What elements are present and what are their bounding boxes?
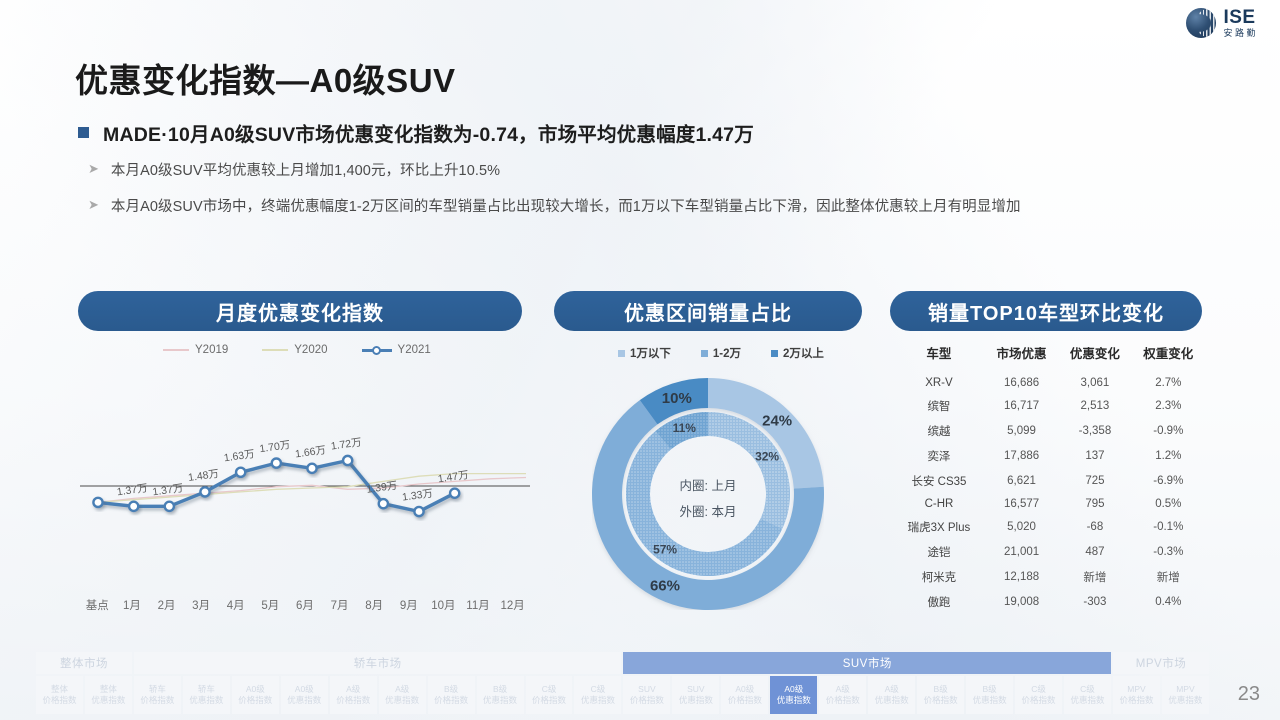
x-tick-label: 1月 — [115, 597, 150, 613]
table-row: C-HR16,5777950.5% — [893, 493, 1205, 514]
legend-label: 1-2万 — [713, 345, 741, 361]
data-label: 1.47万 — [437, 469, 469, 485]
nav-group-轿车市场[interactable]: 轿车市场 — [134, 652, 622, 674]
nav-item-line2: 价格指数 — [336, 695, 370, 706]
nav-item-line1: C级 — [591, 684, 606, 695]
line-chart-x-axis: 基点1月2月3月4月5月6月7月8月9月10月11月12月 — [80, 597, 530, 613]
table-cell: 21,001 — [985, 539, 1058, 564]
brand-logo: ISE 安路勤 — [1186, 8, 1258, 38]
table-cell: 柯米克 — [893, 564, 985, 589]
table-cell: 瑞虎3X Plus — [893, 514, 985, 539]
table-cell: 12,188 — [985, 564, 1058, 589]
table-cell: -6.9% — [1132, 468, 1205, 493]
main-bullet-text: MADE·10月A0级SUV市场优惠变化指数为-0.74，市场平均优惠幅度1.4… — [103, 118, 754, 147]
donut-outer-label: 24% — [762, 412, 792, 429]
data-point — [165, 502, 174, 511]
main-bullet: MADE·10月A0级SUV市场优惠变化指数为-0.74，市场平均优惠幅度1.4… — [78, 118, 754, 147]
table-cell: 2,513 — [1058, 393, 1131, 418]
nav-item-line1: C级 — [1031, 684, 1046, 695]
x-tick-label: 3月 — [184, 597, 219, 613]
table-row: 缤越5,099-3,358-0.9% — [893, 418, 1205, 443]
nav-item-line1: B级 — [934, 684, 948, 695]
nav-group-SUV市场[interactable]: SUV市场 — [623, 652, 1111, 674]
nav-item-15[interactable]: A0级优惠指数 — [770, 676, 817, 714]
table-cell: XR-V — [893, 372, 985, 393]
legend-line-swatch — [262, 349, 288, 351]
x-tick-label: 6月 — [288, 597, 323, 613]
table-cell: 2.3% — [1132, 393, 1205, 418]
nav-item-0[interactable]: 整体价格指数 — [36, 676, 83, 714]
nav-item-line2: 优惠指数 — [875, 695, 909, 706]
x-tick-label: 9月 — [391, 597, 426, 613]
x-tick-label: 8月 — [357, 597, 392, 613]
nav-group-MPV市场[interactable]: MPV市场 — [1113, 652, 1209, 674]
legend-item-1万以下: 1万以下 — [618, 345, 671, 361]
nav-item-6[interactable]: A级价格指数 — [330, 676, 377, 714]
x-tick-label: 11月 — [461, 597, 496, 613]
nav-item-11[interactable]: C级优惠指数 — [574, 676, 621, 714]
brand-text: ISE 安路勤 — [1223, 8, 1258, 38]
data-label: 1.39万 — [366, 480, 398, 496]
data-label: 1.66万 — [294, 444, 326, 460]
nav-item-line1: 整体 — [51, 684, 68, 695]
data-label: 1.72万 — [330, 436, 362, 452]
table-cell: 0.5% — [1132, 493, 1205, 514]
nav-item-row: 整体价格指数整体优惠指数轿车价格指数轿车优惠指数A0级价格指数A0级优惠指数A级… — [36, 676, 1211, 714]
table-cell: -303 — [1058, 589, 1131, 614]
donut-inner-label: 57% — [653, 542, 677, 556]
x-tick-label: 7月 — [322, 597, 357, 613]
slide-root: ISE 安路勤 优惠变化指数—A0级SUV MADE·10月A0级SUV市场优惠… — [0, 0, 1280, 720]
chevron-right-icon: ➤ — [88, 196, 99, 215]
bullet-square-icon — [78, 127, 89, 138]
nav-item-line2: 价格指数 — [42, 695, 76, 706]
nav-item-19[interactable]: B级优惠指数 — [966, 676, 1013, 714]
data-point — [414, 507, 423, 516]
table-cell: -0.1% — [1132, 514, 1205, 539]
nav-item-9[interactable]: B级优惠指数 — [477, 676, 524, 714]
nav-item-line2: 优惠指数 — [287, 695, 321, 706]
table-cell: 缤越 — [893, 418, 985, 443]
nav-item-12[interactable]: SUV价格指数 — [623, 676, 670, 714]
nav-item-5[interactable]: A0级优惠指数 — [281, 676, 328, 714]
nav-item-line2: 价格指数 — [630, 695, 664, 706]
table-cell: -3,358 — [1058, 418, 1131, 443]
nav-item-line1: 轿车 — [198, 684, 215, 695]
table-row: 傲跑19,008-3030.4% — [893, 589, 1205, 614]
nav-item-line1: A级 — [395, 684, 409, 695]
table-cell: -0.9% — [1132, 418, 1205, 443]
table-row: 长安 CS356,621725-6.9% — [893, 468, 1205, 493]
nav-item-line1: A0级 — [246, 684, 265, 695]
nav-item-line2: 价格指数 — [532, 695, 566, 706]
data-label: 1.70万 — [259, 439, 291, 455]
nav-group-整体市场[interactable]: 整体市场 — [36, 652, 132, 674]
table-cell: 487 — [1058, 539, 1131, 564]
table-cell: 0.4% — [1132, 589, 1205, 614]
nav-item-line1: A0级 — [784, 684, 803, 695]
table-cell: 新增 — [1058, 564, 1131, 589]
legend-label: Y2020 — [294, 344, 327, 356]
table-cell: 途铠 — [893, 539, 985, 564]
legend-item-2万以上: 2万以上 — [771, 345, 824, 361]
table-cell: 6,621 — [985, 468, 1058, 493]
sub-bullet-text: 本月A0级SUV市场中，终端优惠幅度1-2万区间的车型销量占比出现较大增长，而1… — [111, 196, 1021, 218]
nav-item-17[interactable]: A级优惠指数 — [868, 676, 915, 714]
x-tick-label: 10月 — [426, 597, 461, 613]
nav-item-line1: C级 — [542, 684, 557, 695]
table-cell: 长安 CS35 — [893, 468, 985, 493]
data-label: 1.33万 — [401, 487, 433, 503]
nav-item-line2: 优惠指数 — [973, 695, 1007, 706]
donut-center-note-outer: 外圈: 本月 — [680, 505, 737, 519]
nav-item-10[interactable]: C级价格指数 — [526, 676, 573, 714]
table-cell: 16,717 — [985, 393, 1058, 418]
nav-item-line1: A级 — [836, 684, 850, 695]
nav-item-14[interactable]: A0级价格指数 — [721, 676, 768, 714]
monthly-discount-index-line-chart: 1.37万1.37万1.48万1.63万1.70万1.66万1.72万1.39万… — [80, 370, 530, 620]
legend-color-swatch — [771, 350, 778, 357]
table-cell: 奕泽 — [893, 443, 985, 468]
nav-item-line2: 价格指数 — [924, 695, 958, 706]
sub-bullet-text: 本月A0级SUV平均优惠较上月增加1,400元，环比上升10.5% — [111, 160, 500, 182]
nav-item-23[interactable]: MPV优惠指数 — [1162, 676, 1209, 714]
legend-label: Y2021 — [398, 344, 431, 356]
table-row: 途铠21,001487-0.3% — [893, 539, 1205, 564]
brand-name: ISE — [1223, 8, 1258, 27]
nav-item-22[interactable]: MPV价格指数 — [1113, 676, 1160, 714]
table-row: 瑞虎3X Plus5,020-68-0.1% — [893, 514, 1205, 539]
table-column-header: 车型 — [893, 340, 985, 372]
nav-item-2[interactable]: 轿车价格指数 — [134, 676, 181, 714]
nav-item-line2: 优惠指数 — [777, 695, 811, 706]
table-cell: 新增 — [1132, 564, 1205, 589]
data-label: 1.37万 — [116, 482, 148, 498]
table-row: 柯米克12,188新增新增 — [893, 564, 1205, 589]
nav-item-line1: A0级 — [295, 684, 314, 695]
nav-item-7[interactable]: A级优惠指数 — [379, 676, 426, 714]
bottom-navigation: 整体市场轿车市场SUV市场MPV市场 整体价格指数整体优惠指数轿车价格指数轿车优… — [36, 652, 1211, 714]
nav-item-20[interactable]: C级价格指数 — [1015, 676, 1062, 714]
table-cell: 137 — [1058, 443, 1131, 468]
table-header-row: 车型市场优惠优惠变化权重变化 — [893, 340, 1205, 372]
legend-color-swatch — [618, 350, 625, 357]
legend-item-Y2020: Y2020 — [262, 344, 327, 356]
donut-inner-ring — [626, 412, 790, 576]
discount-range-share-donut-chart: 24%66%10%32%57%11%内圈: 上月外圈: 本月 — [592, 378, 824, 610]
nav-item-line2: 价格指数 — [1022, 695, 1056, 706]
table-cell: 16,686 — [985, 372, 1058, 393]
legend-marker-swatch — [362, 345, 392, 355]
nav-item-line1: B级 — [493, 684, 507, 695]
donut-chart-legend: 1万以下1-2万2万以上 — [618, 345, 824, 361]
table-cell: 16,577 — [985, 493, 1058, 514]
page-title: 优惠变化指数—A0级SUV — [75, 54, 456, 102]
nav-item-line2: 价格指数 — [140, 695, 174, 706]
line-chart-legend: Y2019Y2020Y2021 — [163, 344, 431, 356]
nav-item-1[interactable]: 整体优惠指数 — [85, 676, 132, 714]
table-cell: 傲跑 — [893, 589, 985, 614]
table-cell: 3,061 — [1058, 372, 1131, 393]
table-row: XR-V16,6863,0612.7% — [893, 372, 1205, 393]
legend-label: 2万以上 — [783, 345, 824, 361]
legend-color-swatch — [701, 350, 708, 357]
table-cell: 19,008 — [985, 589, 1058, 614]
globe-icon — [1186, 8, 1216, 38]
donut-outer-label: 10% — [662, 390, 692, 407]
data-point — [200, 487, 209, 496]
nav-item-line2: 优惠指数 — [1070, 695, 1104, 706]
data-point — [450, 489, 459, 498]
nav-group-row: 整体市场轿车市场SUV市场MPV市场 — [36, 652, 1211, 674]
chevron-right-icon: ➤ — [88, 160, 99, 179]
nav-item-line1: 轿车 — [149, 684, 166, 695]
data-point — [129, 502, 138, 511]
table-cell: 5,020 — [985, 514, 1058, 539]
nav-item-line2: 价格指数 — [434, 695, 468, 706]
table-cell: 2.7% — [1132, 372, 1205, 393]
nav-item-line2: 价格指数 — [826, 695, 860, 706]
table-body: XR-V16,6863,0612.7%缤智16,7172,5132.3%缤越5,… — [893, 372, 1205, 614]
panel-title-line-chart: 月度优惠变化指数 — [78, 291, 522, 331]
legend-label: Y2019 — [195, 344, 228, 356]
x-tick-label: 4月 — [218, 597, 253, 613]
nav-item-line1: 整体 — [100, 684, 117, 695]
nav-item-line1: A0级 — [735, 684, 754, 695]
table-row: 奕泽17,8861371.2% — [893, 443, 1205, 468]
nav-item-4[interactable]: A0级价格指数 — [232, 676, 279, 714]
nav-item-18[interactable]: B级价格指数 — [917, 676, 964, 714]
table-cell: -0.3% — [1132, 539, 1205, 564]
donut-outer-label: 66% — [650, 577, 680, 594]
nav-item-line1: C级 — [1080, 684, 1095, 695]
nav-item-line2: 优惠指数 — [581, 695, 615, 706]
brand-subname: 安路勤 — [1223, 29, 1258, 38]
table-column-header: 权重变化 — [1132, 340, 1205, 372]
data-label: 1.48万 — [187, 468, 219, 484]
page-number: 23 — [1238, 683, 1260, 706]
nav-item-line2: 优惠指数 — [483, 695, 517, 706]
table-column-header: 优惠变化 — [1058, 340, 1131, 372]
panel-title-table: 销量TOP10车型环比变化 — [890, 291, 1202, 331]
sub-bullet: ➤ 本月A0级SUV平均优惠较上月增加1,400元，环比上升10.5% — [88, 160, 1198, 182]
nav-item-13[interactable]: SUV优惠指数 — [672, 676, 719, 714]
donut-inner-label: 11% — [673, 421, 697, 435]
nav-item-line1: MPV — [1176, 684, 1194, 695]
data-point — [93, 498, 102, 507]
x-tick-label: 12月 — [495, 597, 530, 613]
nav-item-16[interactable]: A级价格指数 — [819, 676, 866, 714]
table-cell: 缤智 — [893, 393, 985, 418]
data-point — [272, 458, 281, 467]
nav-item-line2: 优惠指数 — [385, 695, 419, 706]
x-tick-label: 5月 — [253, 597, 288, 613]
table-cell: -68 — [1058, 514, 1131, 539]
data-point — [343, 456, 352, 465]
table-cell: 1.2% — [1132, 443, 1205, 468]
legend-item-Y2019: Y2019 — [163, 344, 228, 356]
nav-item-line2: 价格指数 — [238, 695, 272, 706]
nav-item-line1: A级 — [346, 684, 360, 695]
nav-item-line1: B级 — [444, 684, 458, 695]
data-point — [379, 499, 388, 508]
table-column-header: 市场优惠 — [985, 340, 1058, 372]
nav-item-line1: SUV — [687, 684, 704, 695]
nav-item-line2: 优惠指数 — [91, 695, 125, 706]
donut-inner-label: 32% — [755, 449, 779, 463]
nav-item-line2: 优惠指数 — [189, 695, 223, 706]
nav-item-line2: 价格指数 — [1119, 695, 1153, 706]
nav-item-line1: MPV — [1127, 684, 1145, 695]
nav-item-line1: SUV — [638, 684, 655, 695]
nav-item-line2: 优惠指数 — [679, 695, 713, 706]
nav-item-line2: 价格指数 — [728, 695, 762, 706]
table-row: 缤智16,7172,5132.3% — [893, 393, 1205, 418]
nav-item-line1: B级 — [983, 684, 997, 695]
data-point — [307, 464, 316, 473]
x-tick-label: 2月 — [149, 597, 184, 613]
table-cell: 17,886 — [985, 443, 1058, 468]
nav-item-3[interactable]: 轿车优惠指数 — [183, 676, 230, 714]
legend-line-swatch — [163, 349, 189, 351]
data-point — [236, 468, 245, 477]
panel-title-donut-chart: 优惠区间销量占比 — [554, 291, 862, 331]
data-label: 1.63万 — [223, 448, 255, 464]
sub-bullet: ➤ 本月A0级SUV市场中，终端优惠幅度1-2万区间的车型销量占比出现较大增长，… — [88, 196, 1218, 218]
table-cell: 795 — [1058, 493, 1131, 514]
nav-item-line2: 优惠指数 — [1168, 695, 1202, 706]
x-tick-label: 基点 — [80, 597, 115, 613]
nav-item-8[interactable]: B级价格指数 — [428, 676, 475, 714]
table-cell: 725 — [1058, 468, 1131, 493]
legend-item-1-2万: 1-2万 — [701, 345, 741, 361]
top10-models-table: 车型市场优惠优惠变化权重变化XR-V16,6863,0612.7%缤智16,71… — [893, 340, 1205, 614]
nav-item-21[interactable]: C级优惠指数 — [1064, 676, 1111, 714]
legend-item-Y2021: Y2021 — [362, 344, 431, 356]
nav-item-line1: A级 — [885, 684, 899, 695]
table-cell: C-HR — [893, 493, 985, 514]
table-cell: 5,099 — [985, 418, 1058, 443]
donut-center-note-inner: 内圈: 上月 — [680, 479, 737, 493]
legend-label: 1万以下 — [630, 345, 671, 361]
